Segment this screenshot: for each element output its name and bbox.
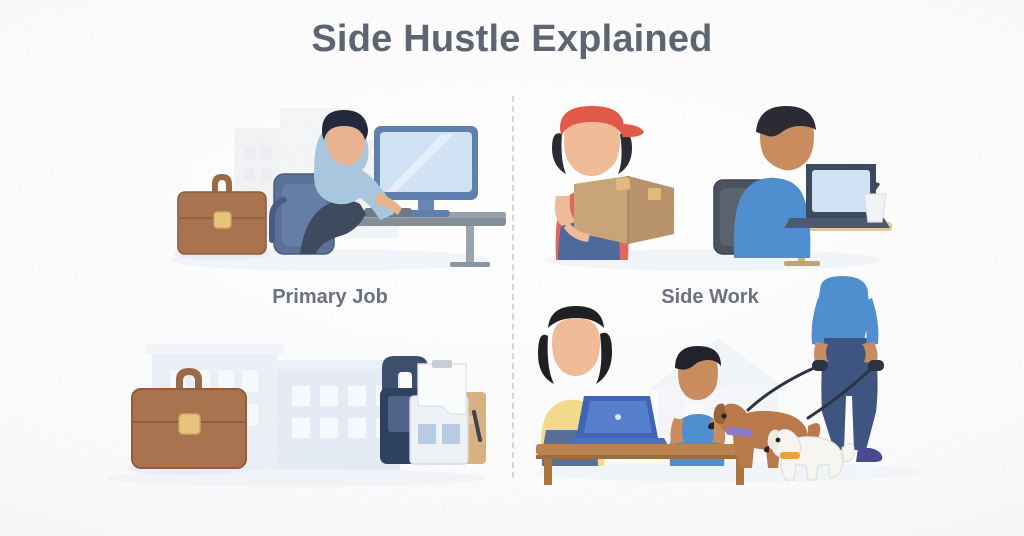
delivery-woman-icon <box>552 106 674 260</box>
scene-briefcase-and-office-building <box>96 330 496 490</box>
illustration-canvas: Side Hustle Explained <box>0 0 1024 536</box>
caption-side-work: Side Work <box>560 286 860 309</box>
scene-delivery-and-freelance-laptop <box>528 88 898 273</box>
cardboard-box-icon <box>574 176 674 244</box>
vertical-dashed-divider <box>512 96 514 478</box>
scene-office-worker-at-desktop <box>150 88 510 273</box>
caption-primary-job: Primary Job <box>180 286 480 309</box>
page-title: Side Hustle Explained <box>0 18 1024 61</box>
scene-tutoring-and-dog-walking <box>528 280 928 490</box>
